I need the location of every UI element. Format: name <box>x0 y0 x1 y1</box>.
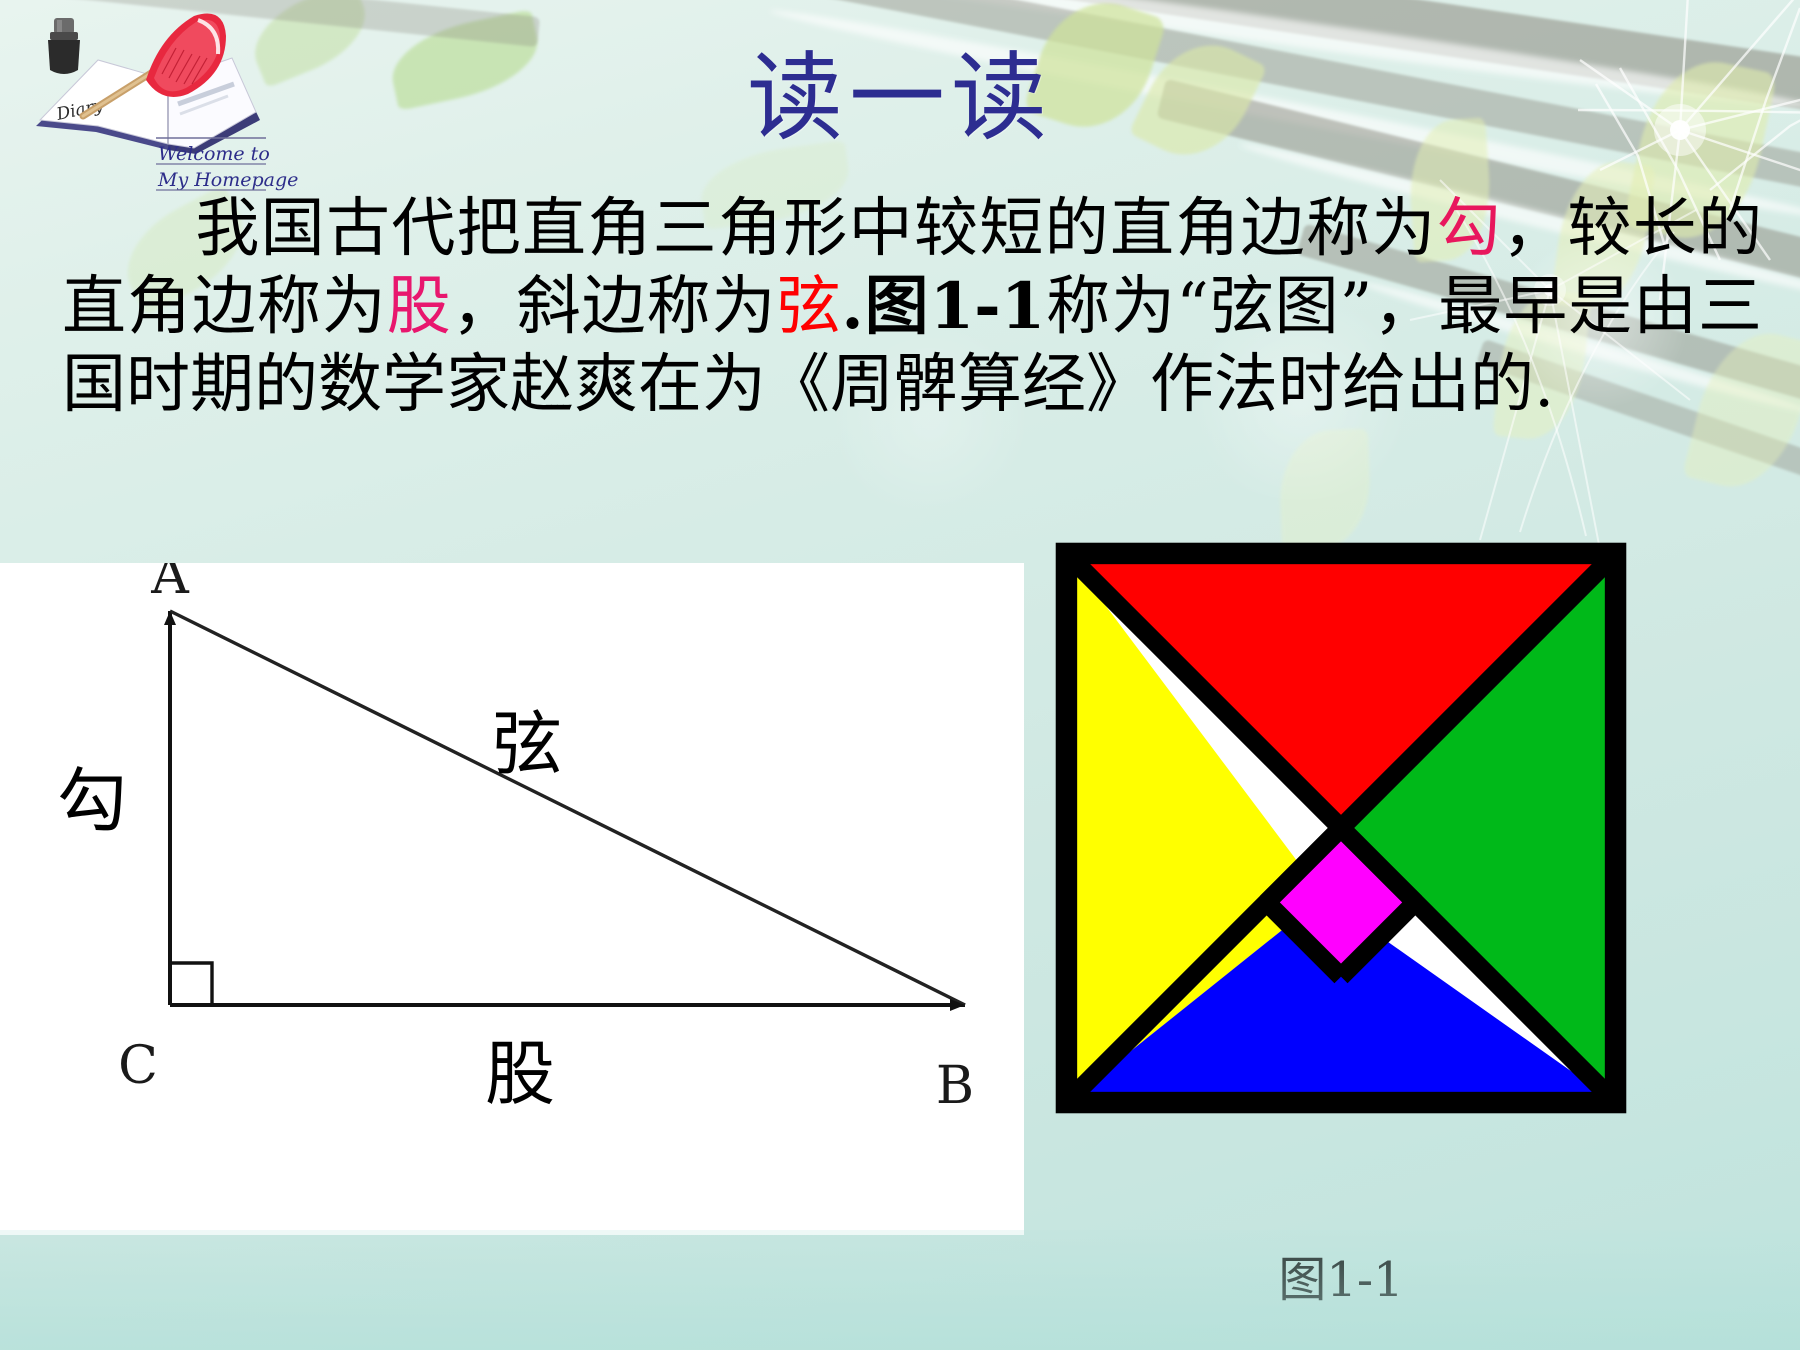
triangle-hypotenuse <box>170 611 965 1005</box>
body-seg-5: .图 <box>841 269 929 344</box>
highlight-gu: 股 <box>387 270 452 344</box>
label-gou: 勾 <box>57 760 127 842</box>
body-seg-8: 》作法时给出的. <box>1086 348 1554 422</box>
slide-canvas: Diary Welcome to <box>0 0 1800 1350</box>
welcome-line-2: My Homepage <box>157 169 298 191</box>
body-paragraph: 我国古代把直角三角形中较短的直角边称为勾，较长的直角边称为股，斜边称为弦.图1-… <box>62 190 1762 424</box>
triangle-figure-panel: A C B 勾 股 弦 <box>0 563 1024 1235</box>
tangram-figure <box>1055 542 1627 1114</box>
label-xian: 弦 <box>492 703 562 785</box>
leaf-shape <box>1278 428 1372 551</box>
body-seg-1: 我国古代把直角三角形中较短的直角边称为 <box>194 192 1437 266</box>
highlight-xian: 弦 <box>776 270 841 344</box>
body-seg-2: ， <box>1502 192 1567 266</box>
label-gu: 股 <box>485 1033 555 1115</box>
body-seg-6: 称为“弦图 <box>1045 270 1339 344</box>
vertex-label-b: B <box>936 1056 974 1116</box>
figure-number-inline: 1-1 <box>930 269 1046 344</box>
highlight-gou: 勾 <box>1437 192 1502 266</box>
slide-title: 读一读 <box>0 48 1800 149</box>
vertex-label-c: C <box>118 1036 158 1096</box>
right-angle-marker <box>170 963 212 1005</box>
figure-caption: 图1-1 <box>1055 1240 1627 1310</box>
body-seg-4: ，斜边称为 <box>452 270 777 344</box>
vertex-label-a: A <box>150 563 190 606</box>
